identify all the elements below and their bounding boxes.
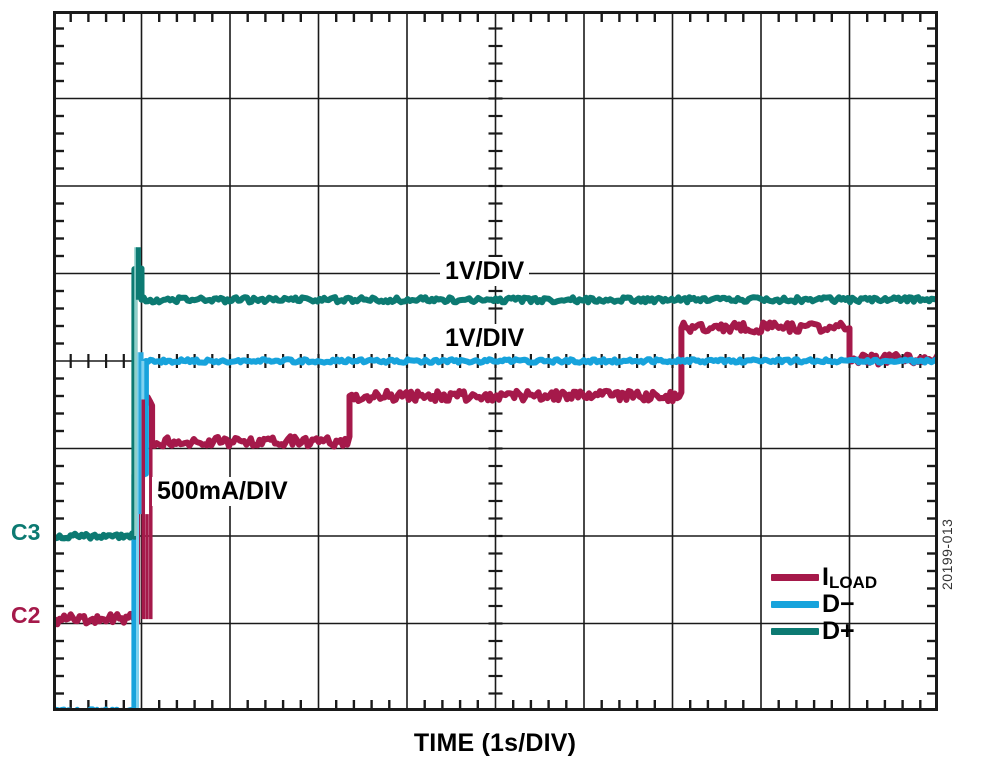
legend: ILOAD D− D+: [771, 564, 877, 645]
legend-entry-iload: ILOAD: [771, 564, 877, 591]
legend-swatch-dminus: [771, 601, 819, 608]
legend-label-dplus: D+: [822, 619, 855, 644]
legend-label-iload-main: I: [822, 563, 829, 591]
legend-entry-dminus: D−: [771, 591, 877, 618]
legend-label-iload-sub: LOAD: [829, 573, 877, 592]
legend-label-iload: ILOAD: [822, 565, 877, 590]
oscilloscope-figure: ILOAD D− D+ 1V/DIV 1V/DIV 500mA/DIV C3 C…: [0, 0, 990, 779]
annotation-iload-scale: 500mA/DIV: [152, 477, 293, 506]
plot-area: ILOAD D− D+: [53, 11, 938, 711]
annotation-dplus-scale: 1V/DIV: [440, 257, 529, 286]
legend-entry-dplus: D+: [771, 618, 877, 645]
legend-swatch-iload: [771, 574, 819, 581]
channel-marker-c3: C3: [11, 521, 40, 544]
document-id: 20199-013: [939, 450, 955, 590]
x-axis-title: TIME (1s/DIV): [0, 729, 990, 758]
channel-marker-c2: C2: [11, 604, 40, 627]
annotation-dminus-scale: 1V/DIV: [440, 324, 529, 353]
legend-label-dminus: D−: [822, 592, 855, 617]
legend-swatch-dplus: [771, 628, 819, 635]
